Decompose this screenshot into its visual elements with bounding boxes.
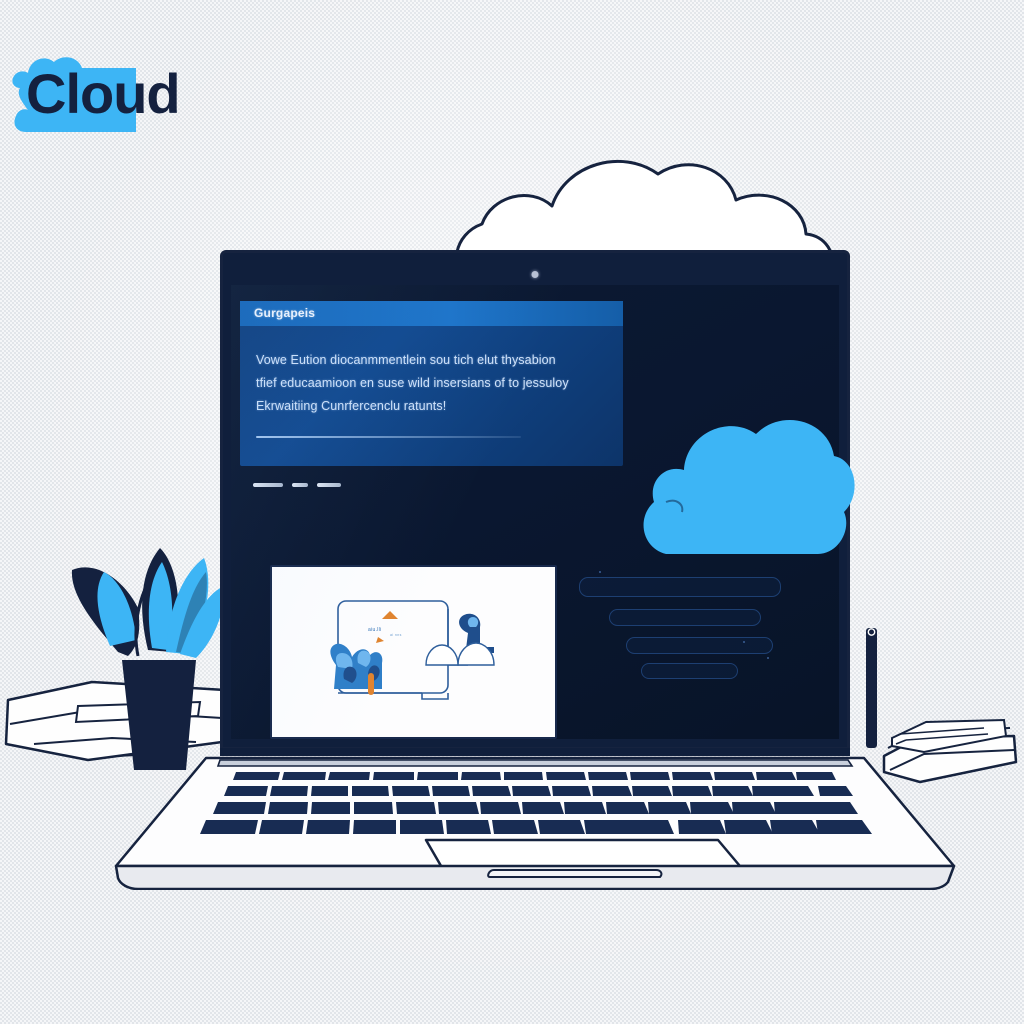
hero-divider <box>256 436 521 438</box>
nav-dash-1[interactable] <box>253 483 283 487</box>
hero-body-line-2: tfief educaamioon en suse wild insersian… <box>256 372 611 395</box>
nav-dash-2[interactable] <box>292 483 308 487</box>
hero-header-title: Gurgapeis <box>254 306 315 320</box>
overlay-cloud-icon <box>632 390 860 560</box>
hero-body-line-1: Vowe Eution diocanmmentlein sou tich elu… <box>256 349 611 372</box>
hero-body: Vowe Eution diocanmmentlein sou tich elu… <box>256 349 611 418</box>
illustration-scene: Cloud <box>0 0 1024 1024</box>
speck-1 <box>599 571 601 573</box>
card-caption: aiu.lli <box>368 627 382 633</box>
placeholder-line-3[interactable] <box>626 637 773 654</box>
hero-panel[interactable]: Gurgapeis Vowe Eution diocanmmentlein so… <box>240 301 623 466</box>
hero-header-bar: Gurgapeis <box>240 301 623 326</box>
nav-dash-3[interactable] <box>317 483 341 487</box>
card-illustration-icon <box>272 567 555 737</box>
nav-dashes[interactable] <box>253 483 341 487</box>
placeholder-line-4[interactable] <box>641 663 738 679</box>
side-panel <box>571 569 816 699</box>
placeholder-line-1[interactable] <box>579 577 781 597</box>
hero-body-line-3: Ekrwaitiing Cunrfercenclu ratunts! <box>256 395 611 418</box>
webcam-icon <box>532 271 539 278</box>
laptop-base <box>108 748 958 890</box>
speck-2 <box>767 657 769 659</box>
placeholder-line-2[interactable] <box>609 609 761 626</box>
speck-3 <box>743 641 745 643</box>
card-caption-sub: ai nns <box>390 633 402 637</box>
laptop: Gurgapeis Vowe Eution diocanmmentlein so… <box>108 250 958 890</box>
content-card[interactable]: aiu.lli ai nns <box>270 565 557 739</box>
